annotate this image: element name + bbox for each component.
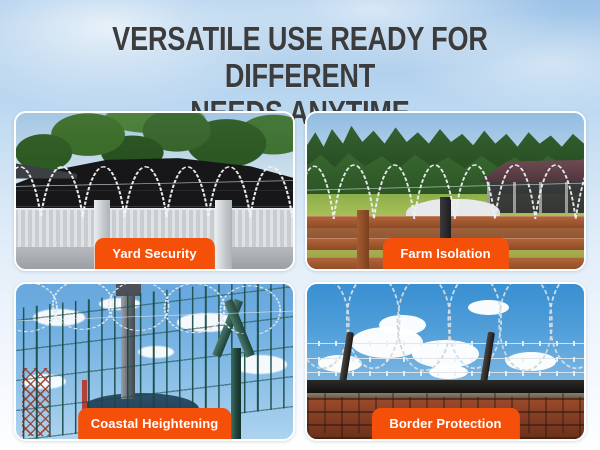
use-case-card-grid: Yard Security <box>14 111 586 441</box>
use-case-card-border-protection[interactable]: Border Protection <box>305 282 586 441</box>
card-label-border-protection[interactable]: Border Protection <box>371 408 519 440</box>
promo-banner: VERSATILE USE READY FOR DIFFERENT NEEDS … <box>0 0 600 450</box>
card-label-farm-isolation[interactable]: Farm Isolation <box>382 238 508 270</box>
card-label-yard-security[interactable]: Yard Security <box>94 238 214 270</box>
card-label-coastal-heightening[interactable]: Coastal Heightening <box>78 408 232 440</box>
use-case-card-farm-isolation[interactable]: Farm Isolation <box>305 111 586 271</box>
use-case-card-coastal-heightening[interactable]: Coastal Heightening <box>14 282 295 441</box>
use-case-card-yard-security[interactable]: Yard Security <box>14 111 295 271</box>
